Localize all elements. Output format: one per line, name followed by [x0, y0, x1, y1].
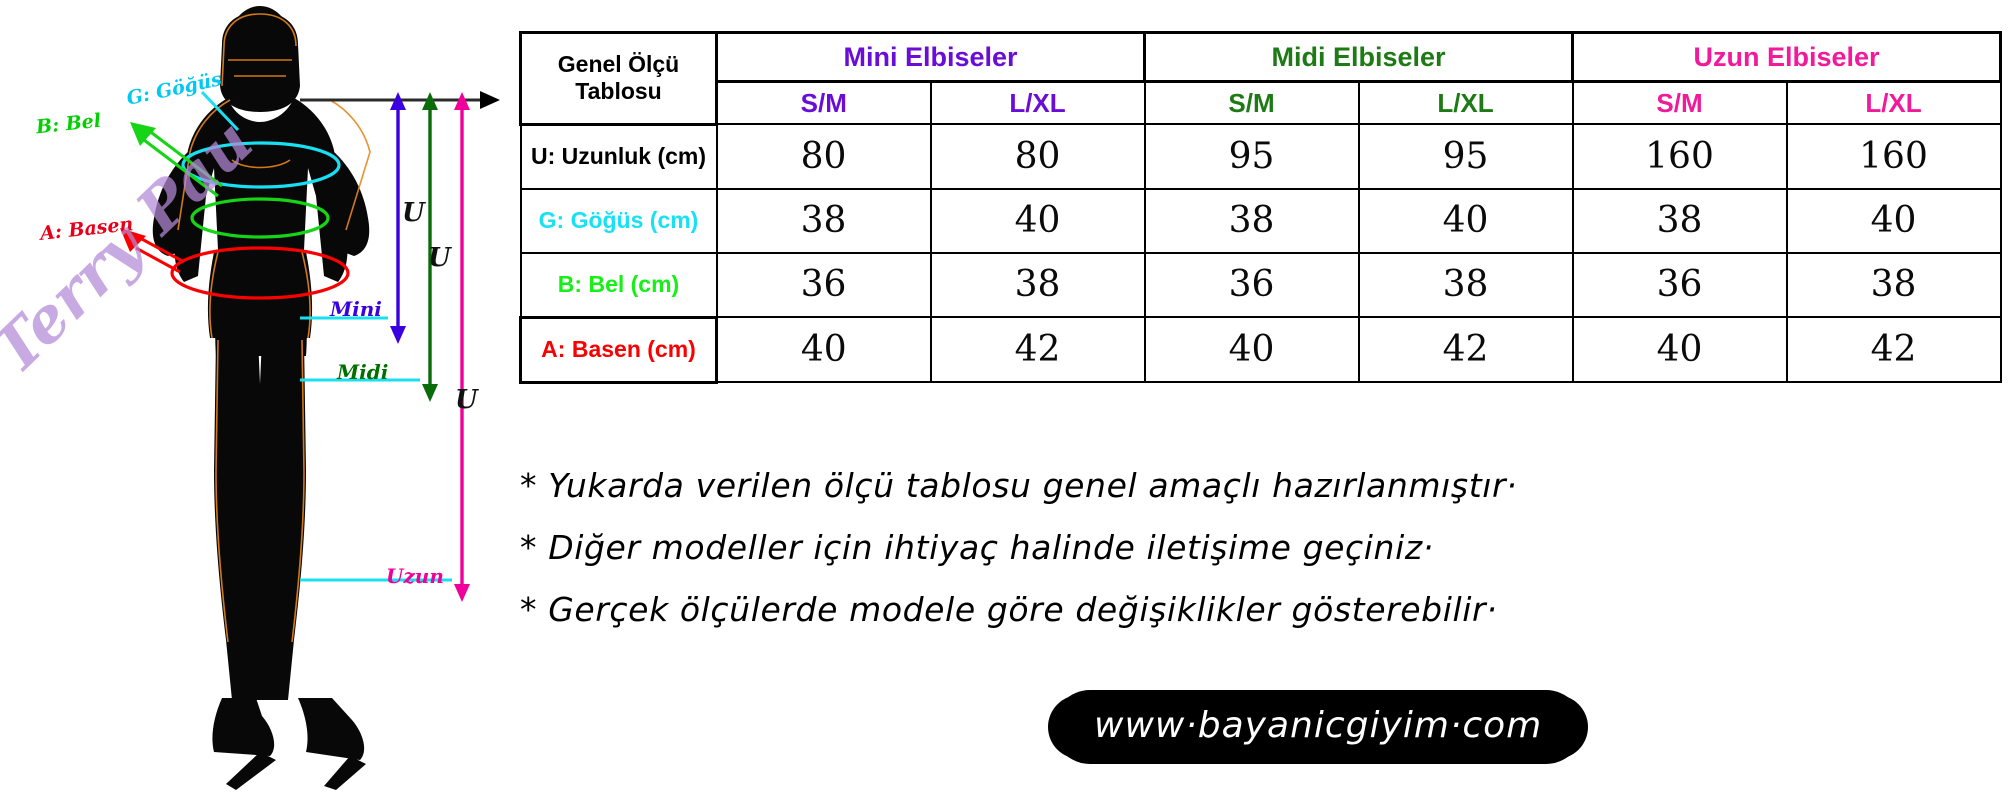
cell-uzunluk-midi-lxl: 95 [1359, 124, 1573, 189]
notes-section: * Yukarda verilen ölçü tablosu genel ama… [520, 455, 1990, 641]
cell-gogus-uzun-lxl: 40 [1787, 189, 2001, 253]
size-header-mini-lxl: L/XL [931, 82, 1145, 125]
note-line-3: * Gerçek ölçülerde modele göre değişikli… [520, 579, 1990, 641]
cell-uzunluk-uzun-sm: 160 [1573, 124, 1787, 189]
cell-gogus-uzun-sm: 38 [1573, 189, 1787, 253]
cell-uzunluk-mini-sm: 80 [717, 124, 931, 189]
row-label-uzunluk: U: Uzunluk (cm) [521, 124, 717, 189]
table-row: U: Uzunluk (cm) 80 80 95 95 160 160 [521, 124, 2001, 189]
label-midi: Midi [337, 360, 388, 384]
cell-gogus-midi-lxl: 40 [1359, 189, 1573, 253]
cell-uzunluk-mini-lxl: 80 [931, 124, 1145, 189]
size-chart-table: Genel Ölçü Tablosu Mini Elbiseler Midi E… [519, 31, 2002, 384]
cell-basen-mini-lxl: 42 [931, 317, 1145, 382]
cell-bel-uzun-sm: 36 [1573, 253, 1787, 318]
size-header-midi-lxl: L/XL [1359, 82, 1573, 125]
cell-bel-mini-lxl: 38 [931, 253, 1145, 318]
cell-basen-midi-lxl: 42 [1359, 317, 1573, 382]
label-uzun: Uzun [386, 564, 444, 588]
cell-bel-uzun-lxl: 38 [1787, 253, 2001, 318]
size-header-mini-sm: S/M [717, 82, 931, 125]
row-label-bel: B: Bel (cm) [521, 253, 717, 318]
size-header-midi-sm: S/M [1145, 82, 1359, 125]
cell-bel-mini-sm: 36 [717, 253, 931, 318]
label-bel: B: Bel [35, 110, 102, 139]
cell-uzunluk-midi-sm: 95 [1145, 124, 1359, 189]
length-mark-midi: U [428, 243, 451, 273]
group-header-midi: Midi Elbiseler [1145, 33, 1573, 82]
length-mark-uzun: U [455, 385, 478, 415]
website-banner[interactable]: www·bayanicgiyim·com [1060, 697, 1576, 757]
label-mini: Mini [330, 297, 382, 321]
size-header-uzun-lxl: L/XL [1787, 82, 2001, 125]
cell-bel-midi-lxl: 38 [1359, 253, 1573, 318]
table-row: G: Göğüs (cm) 38 40 38 40 38 40 [521, 189, 2001, 253]
cell-basen-uzun-sm: 40 [1573, 317, 1787, 382]
length-mark-mini: U [402, 198, 425, 228]
cell-gogus-mini-sm: 38 [717, 189, 931, 253]
cell-gogus-mini-lxl: 40 [931, 189, 1145, 253]
table-row: A: Basen (cm) 40 42 40 42 40 42 [521, 317, 2001, 382]
cell-basen-uzun-lxl: 42 [1787, 317, 2001, 382]
note-line-1: * Yukarda verilen ölçü tablosu genel ama… [520, 455, 1990, 517]
cell-uzunluk-uzun-lxl: 160 [1787, 124, 2001, 189]
table-corner-label: Genel Ölçü Tablosu [521, 33, 717, 125]
group-header-uzun: Uzun Elbiseler [1573, 33, 2001, 82]
table-row: B: Bel (cm) 36 38 36 38 36 38 [521, 253, 2001, 318]
cell-bel-midi-sm: 36 [1145, 253, 1359, 318]
table-size-header-row: S/M L/XL S/M L/XL S/M L/XL [521, 82, 2001, 125]
table-group-header-row: Genel Ölçü Tablosu Mini Elbiseler Midi E… [521, 33, 2001, 82]
size-header-uzun-sm: S/M [1573, 82, 1787, 125]
group-header-mini: Mini Elbiseler [717, 33, 1145, 82]
row-label-basen: A: Basen (cm) [521, 317, 717, 382]
cell-gogus-midi-sm: 38 [1145, 189, 1359, 253]
note-line-2: * Diğer modeller için ihtiyaç halinde il… [520, 517, 1990, 579]
row-label-gogus: G: Göğüs (cm) [521, 189, 717, 253]
cell-basen-midi-sm: 40 [1145, 317, 1359, 382]
figure-panel: G: Göğüs B: Bel A: Basen Mini Midi Uz [0, 0, 512, 811]
cell-basen-mini-sm: 40 [717, 317, 931, 382]
